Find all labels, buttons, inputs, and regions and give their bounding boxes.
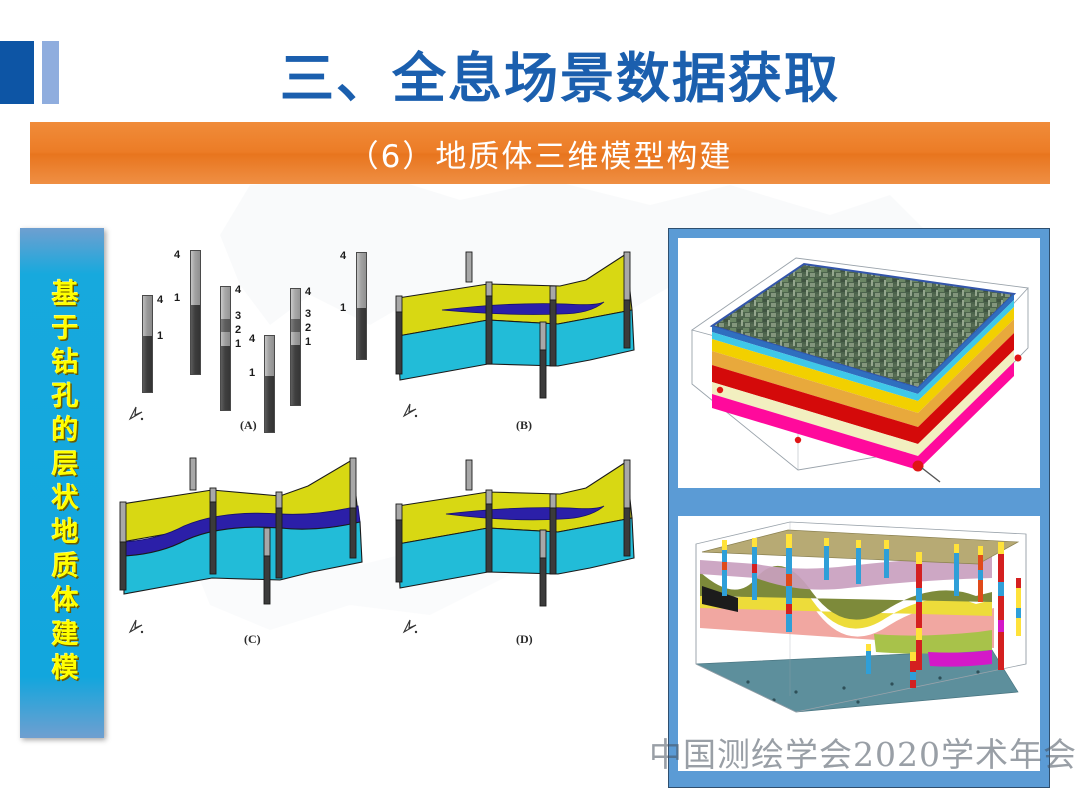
borehole-segment-4 xyxy=(291,289,300,319)
figure-panel-group: 4 1 4 1 4 3 2 1 xyxy=(112,240,660,660)
side-banner: 基于钻孔的层状地质体建模 xyxy=(20,228,104,738)
borehole-column xyxy=(290,288,301,406)
borehole-layer-label: 1 xyxy=(157,330,163,342)
borehole-segment-upper xyxy=(143,296,152,336)
borehole-segment-1 xyxy=(221,346,230,410)
borehole-segment-2 xyxy=(291,332,300,345)
borehole-layer-label: 1 xyxy=(174,292,180,304)
figure-caption-c: (C) xyxy=(244,632,261,647)
borehole-marker xyxy=(1016,578,1021,636)
header-decoration-dark-block xyxy=(0,41,34,104)
borehole-column xyxy=(356,252,367,360)
borehole-marker xyxy=(752,538,757,600)
figure-panel-d: (D) xyxy=(390,448,658,648)
borehole-marker xyxy=(916,552,922,670)
figure-panel-b: (B) xyxy=(390,240,658,440)
compass-icon xyxy=(126,403,148,425)
borehole-marker xyxy=(786,534,792,632)
borehole-segment-upper xyxy=(357,253,366,308)
model-image-top xyxy=(678,238,1040,488)
model-image-frame xyxy=(668,228,1050,788)
borehole-segment-2 xyxy=(221,332,230,346)
compass-icon xyxy=(400,616,422,638)
borehole-column xyxy=(190,250,201,375)
section-subtitle-bar: （6）地质体三维模型构建 xyxy=(30,122,1050,184)
borehole-segment-lower xyxy=(265,376,274,432)
borehole-marker xyxy=(824,538,829,580)
borehole-layer-label: 1 xyxy=(340,302,346,314)
3d-geology-borehole-model xyxy=(678,516,1040,771)
borehole-segment-upper xyxy=(191,251,200,305)
borehole-marker xyxy=(866,644,871,674)
borehole-marker xyxy=(998,542,1004,670)
borehole-layer-label: 4 xyxy=(305,286,311,298)
compass-icon xyxy=(126,616,148,638)
figure-caption-b: (B) xyxy=(516,418,532,433)
cross-section-d xyxy=(390,448,658,633)
section-subtitle-text: （6）地质体三维模型构建 xyxy=(348,131,733,176)
borehole-column xyxy=(142,295,153,393)
borehole-segment-3 xyxy=(291,319,300,332)
borehole-marker xyxy=(722,540,727,596)
slide: 三、全息场景数据获取 （6）地质体三维模型构建 基于钻孔的层状地质体建模 4 1… xyxy=(0,0,1080,810)
3d-layered-block-model xyxy=(678,238,1040,488)
figure-caption-a: (A) xyxy=(240,418,257,433)
borehole-layer-label: 4 xyxy=(340,250,346,262)
figure-panel-c: (C) xyxy=(112,448,384,648)
borehole-layer-label: 4 xyxy=(235,284,241,296)
borehole-layer-label: 2 xyxy=(305,322,311,334)
cross-section-c xyxy=(112,448,384,633)
borehole-segment-upper xyxy=(265,336,274,376)
model-image-bottom xyxy=(678,516,1040,771)
borehole-marker xyxy=(978,546,983,602)
borehole-layer-label: 1 xyxy=(305,336,311,348)
borehole-layer-label: 1 xyxy=(249,367,255,379)
borehole-segment-lower xyxy=(357,308,366,359)
borehole-layer-label: 4 xyxy=(249,333,255,345)
borehole-marker xyxy=(954,544,959,596)
borehole-segment-4 xyxy=(221,287,230,319)
borehole-segment-lower xyxy=(143,336,152,392)
borehole-marker xyxy=(856,540,861,584)
borehole-marker xyxy=(910,652,916,688)
figure-caption-d: (D) xyxy=(516,632,533,647)
page-title: 三、全息场景数据获取 xyxy=(180,34,940,112)
borehole-segment-lower xyxy=(191,305,200,374)
side-banner-text: 基于钻孔的层状地质体建模 xyxy=(49,279,76,687)
cross-section-b xyxy=(390,240,658,420)
borehole-layer-label: 3 xyxy=(235,310,241,322)
borehole-layer-label: 3 xyxy=(305,308,311,320)
borehole-column xyxy=(264,335,275,433)
header-decoration-light-block xyxy=(42,41,59,104)
borehole-layer-label: 4 xyxy=(157,294,163,306)
borehole-layer-label: 1 xyxy=(235,338,241,350)
compass-icon xyxy=(400,400,422,422)
borehole-column xyxy=(220,286,231,411)
borehole-segment-1 xyxy=(291,345,300,405)
borehole-marker xyxy=(884,540,889,578)
figure-panel-a: 4 1 4 1 4 3 2 1 xyxy=(112,240,384,440)
borehole-layer-label: 2 xyxy=(235,324,241,336)
borehole-layer-label: 4 xyxy=(174,249,180,261)
borehole-segment-3 xyxy=(221,319,230,333)
